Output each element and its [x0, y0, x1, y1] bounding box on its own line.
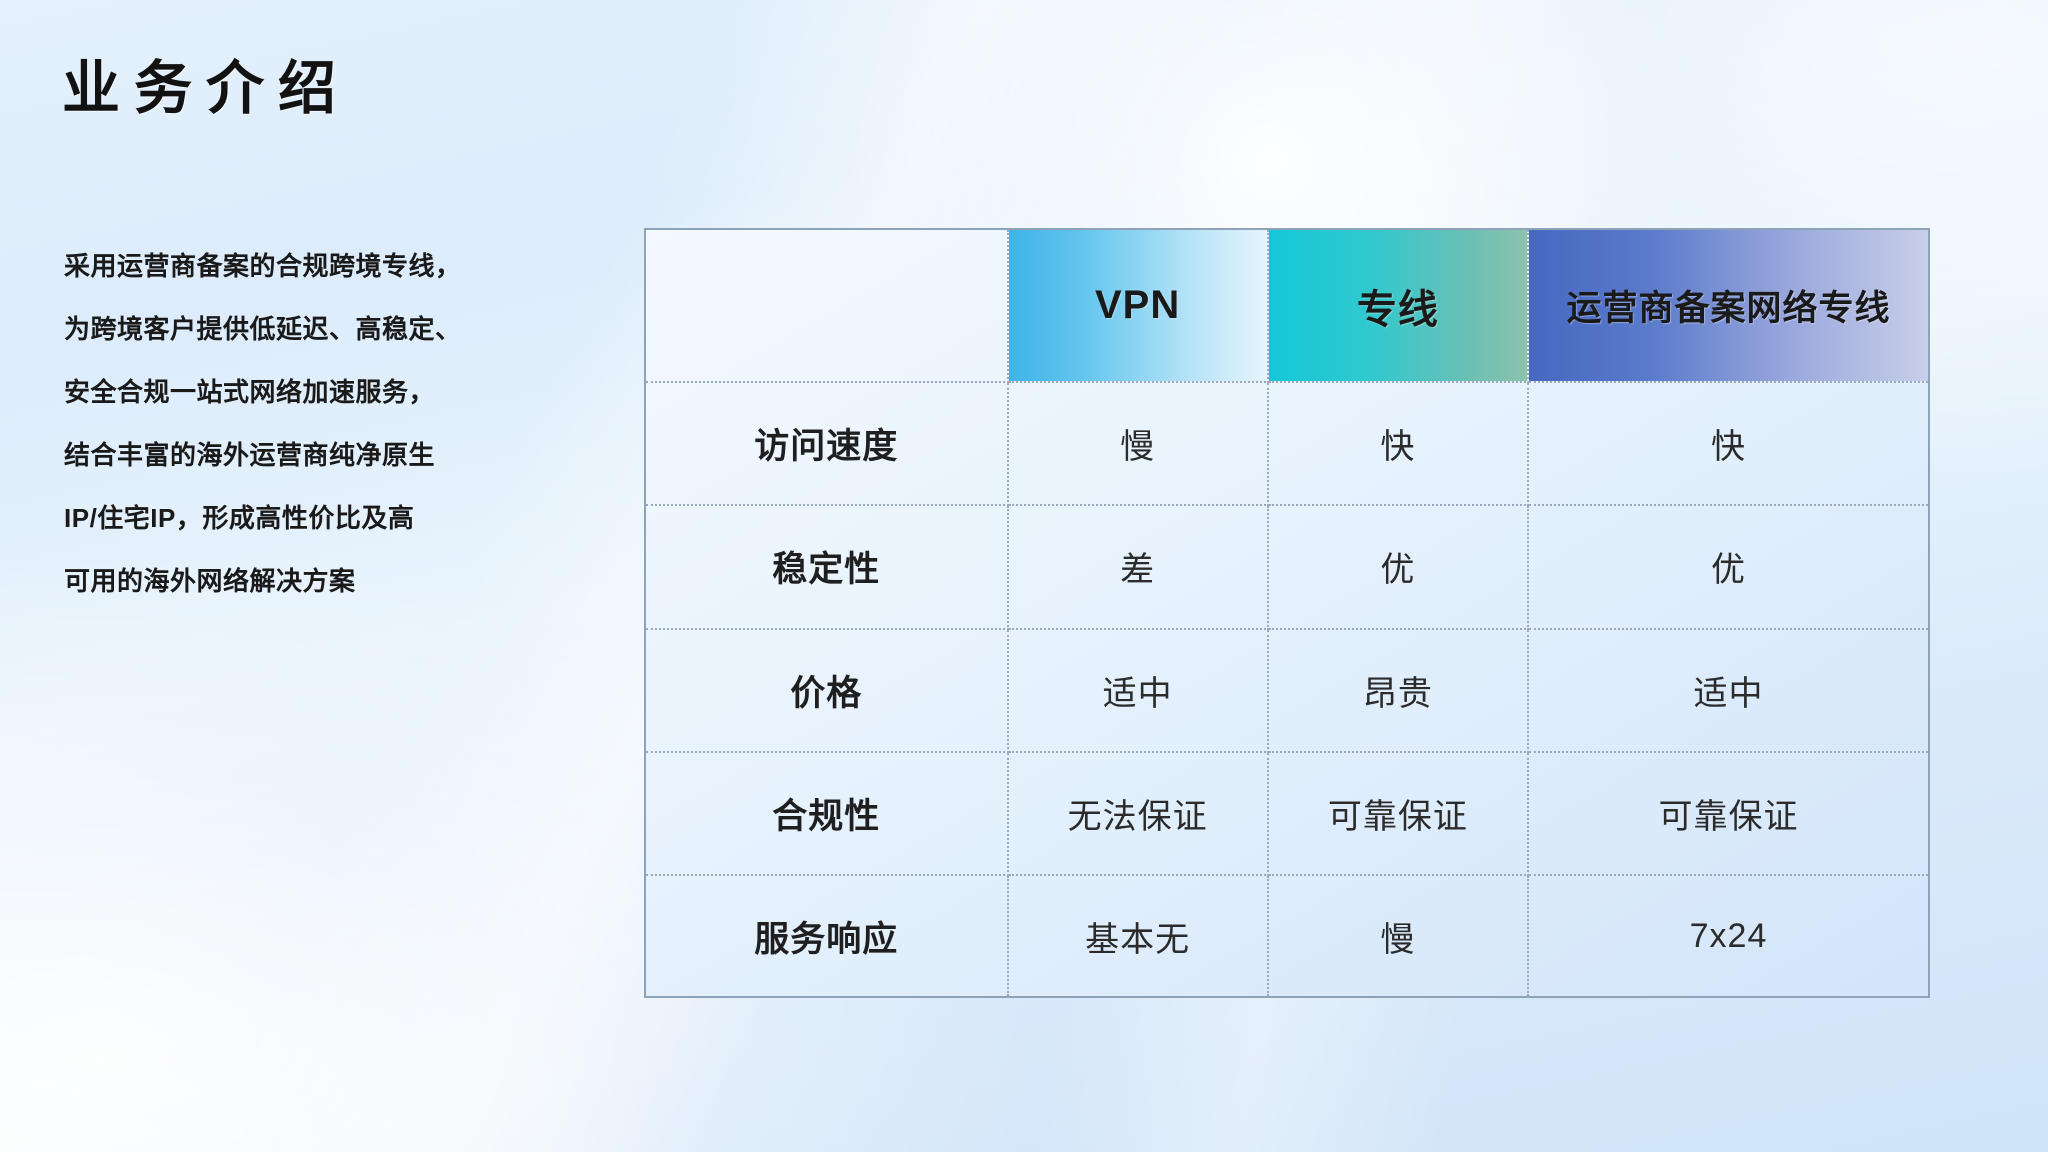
table-header-vpn: VPN: [1008, 230, 1268, 382]
table-header-vpn-label: VPN: [1095, 283, 1180, 327]
row-label: 稳定性: [646, 505, 1008, 628]
table-row: 稳定性 差 优 优: [646, 505, 1928, 628]
cell-vpn: 适中: [1008, 629, 1268, 752]
row-label: 服务响应: [646, 875, 1008, 996]
table-header-blank: [646, 230, 1008, 382]
cell-dedicated-line: 可靠保证: [1268, 752, 1528, 875]
cell-dedicated-line: 快: [1268, 382, 1528, 505]
slide-canvas: 业务介绍 采用运营商备案的合规跨境专线， 为跨境客户提供低延迟、高稳定、 安全合…: [0, 0, 2048, 1152]
description-line: 可用的海外网络解决方案: [64, 550, 624, 613]
cell-dedicated-line: 昂贵: [1268, 629, 1528, 752]
table-header-carrier-line: 运营商备案网络专线: [1528, 230, 1928, 382]
cell-dedicated-line: 优: [1268, 505, 1528, 628]
description-line: 为跨境客户提供低延迟、高稳定、: [64, 298, 624, 361]
table-header: VPN 专线 运营商备案网络专线: [646, 230, 1928, 382]
table-header-dedicated-line-label: 专线: [1357, 288, 1439, 332]
page-title: 业务介绍: [62, 56, 350, 123]
table-header-row: VPN 专线 运营商备案网络专线: [646, 230, 1928, 382]
comparison-table-grid: VPN 专线 运营商备案网络专线 访问速度 慢 快 快: [646, 230, 1928, 996]
cell-vpn: 无法保证: [1008, 752, 1268, 875]
comparison-table: VPN 专线 运营商备案网络专线 访问速度 慢 快 快: [644, 228, 1930, 998]
row-label: 合规性: [646, 752, 1008, 875]
table-row: 访问速度 慢 快 快: [646, 382, 1928, 505]
table-row: 价格 适中 昂贵 适中: [646, 629, 1928, 752]
description-line: 采用运营商备案的合规跨境专线，: [64, 235, 624, 298]
cell-carrier-line: 适中: [1528, 629, 1928, 752]
row-label: 访问速度: [646, 382, 1008, 505]
cell-carrier-line: 优: [1528, 505, 1928, 628]
cell-vpn: 差: [1008, 505, 1268, 628]
cell-vpn: 基本无: [1008, 875, 1268, 996]
description-line: 结合丰富的海外运营商纯净原生: [64, 424, 624, 487]
cell-dedicated-line: 慢: [1268, 875, 1528, 996]
description-line: IP/住宅IP，形成高性价比及高: [64, 487, 624, 550]
description-block: 采用运营商备案的合规跨境专线， 为跨境客户提供低延迟、高稳定、 安全合规一站式网…: [64, 235, 624, 613]
table-header-carrier-line-label: 运营商备案网络专线: [1566, 289, 1890, 328]
cell-vpn: 慢: [1008, 382, 1268, 505]
table-row: 合规性 无法保证 可靠保证 可靠保证: [646, 752, 1928, 875]
description-line: 安全合规一站式网络加速服务，: [64, 361, 624, 424]
table-body: 访问速度 慢 快 快 稳定性 差 优 优 价格 适中 昂贵 适中: [646, 382, 1928, 996]
row-label: 价格: [646, 629, 1008, 752]
cell-carrier-line: 快: [1528, 382, 1928, 505]
table-header-dedicated-line: 专线: [1268, 230, 1528, 382]
cell-carrier-line: 7x24: [1528, 875, 1928, 996]
cell-carrier-line: 可靠保证: [1528, 752, 1928, 875]
table-row: 服务响应 基本无 慢 7x24: [646, 875, 1928, 996]
